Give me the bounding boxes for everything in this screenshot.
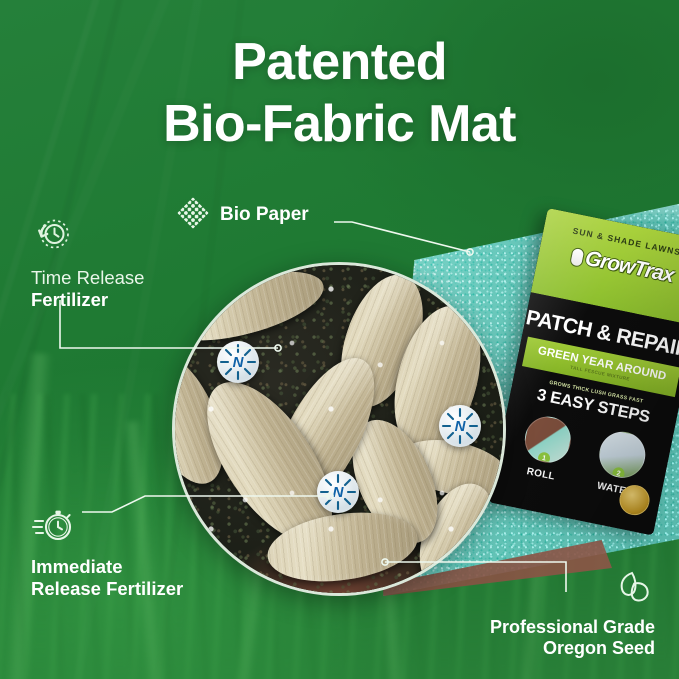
- step-number-badge: 1: [537, 451, 551, 465]
- feature-bio-paper: Bio Paper: [176, 196, 309, 235]
- step-label: ROLL: [526, 466, 556, 482]
- infographic-canvas: SUN & SHADE LAWNS GrowTrax PATCH & REPAI…: [0, 0, 679, 679]
- woven-mesh-icon: [176, 196, 210, 235]
- feature-label-line-1: Bio Paper: [220, 204, 309, 226]
- nutrient-pellet-icon: N: [317, 471, 359, 513]
- package-step-roll: 1 ROLL: [511, 411, 581, 485]
- feature-label-line-1: Time Release: [31, 267, 144, 289]
- magnified-seed-closeup: N N: [172, 262, 506, 596]
- feature-label-line-2: Fertilizer: [31, 289, 144, 311]
- nutrient-pellet-icon: N: [439, 405, 481, 447]
- nutrient-letter: N: [455, 419, 466, 434]
- feature-label-line-2: Release Fertilizer: [31, 578, 183, 600]
- nutrient-pellet-icon: N: [217, 341, 259, 383]
- feature-immediate-release-fertilizer: Immediate Release Fertilizer: [31, 505, 183, 600]
- clock-rotate-icon: [31, 214, 144, 261]
- feature-label-line-1: Professional Grade: [490, 617, 655, 638]
- step-number-badge: 2: [611, 466, 625, 480]
- feature-time-release-fertilizer: Time Release Fertilizer: [31, 214, 144, 311]
- feature-label-line-2: Oregon Seed: [490, 638, 655, 659]
- step-roll-photo: 1: [521, 412, 575, 466]
- feature-label-line-1: Immediate: [31, 556, 183, 578]
- nutrient-letter: N: [233, 355, 244, 370]
- stopwatch-icon: [31, 505, 183, 550]
- brand-leaf-mark-icon: [569, 246, 586, 267]
- step-water-photo: 2: [595, 428, 649, 482]
- feature-oregon-seed: Professional Grade Oregon Seed: [490, 570, 655, 659]
- nutrient-letter: N: [333, 485, 344, 500]
- two-leaves-icon: [490, 570, 655, 611]
